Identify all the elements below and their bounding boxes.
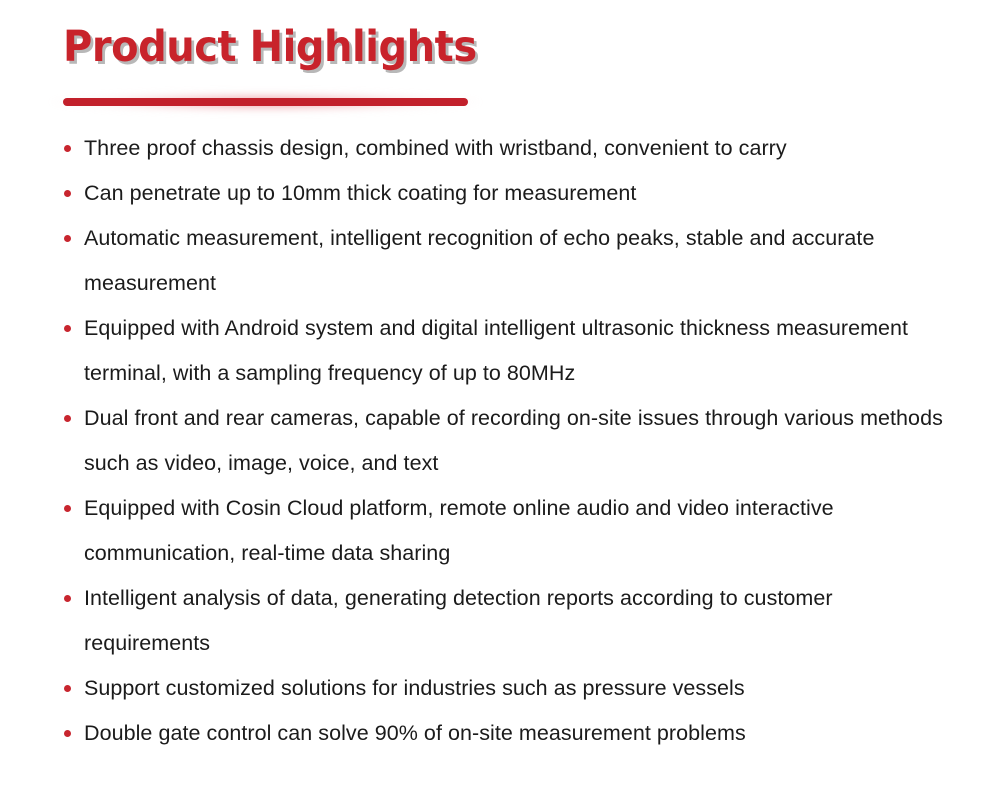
bullet-dot-icon [64, 145, 71, 152]
list-item: Equipped with Cosin Cloud platform, remo… [63, 486, 963, 576]
bullet-dot-icon [64, 685, 71, 692]
list-item-text: Support customized solutions for industr… [84, 666, 963, 711]
page-title: Product Highlights [63, 26, 863, 70]
bullet-dot-icon [64, 235, 71, 242]
list-item-text: Three proof chassis design, combined wit… [84, 126, 963, 171]
list-item: Support customized solutions for industr… [63, 666, 963, 711]
list-item: Double gate control can solve 90% of on-… [63, 711, 963, 756]
slide-canvas: Product Highlights Three proof chassis d… [0, 0, 1000, 800]
bullet-dot-icon [64, 505, 71, 512]
list-item-text: Dual front and rear cameras, capable of … [84, 396, 963, 486]
list-item: Automatic measurement, intelligent recog… [63, 216, 963, 306]
list-item: Three proof chassis design, combined wit… [63, 126, 963, 171]
list-item: Equipped with Android system and digital… [63, 306, 963, 396]
list-item-text: Can penetrate up to 10mm thick coating f… [84, 171, 963, 216]
bullet-dot-icon [64, 595, 71, 602]
bullet-dot-icon [64, 730, 71, 737]
bullet-dot-icon [64, 190, 71, 197]
title-block: Product Highlights [63, 26, 923, 70]
list-item-text: Equipped with Android system and digital… [84, 306, 963, 396]
title-underline [63, 89, 468, 115]
bullet-dot-icon [64, 415, 71, 422]
list-item-text: Equipped with Cosin Cloud platform, remo… [84, 486, 963, 576]
highlights-list: Three proof chassis design, combined wit… [63, 126, 963, 756]
list-item-text: Double gate control can solve 90% of on-… [84, 711, 963, 756]
bullet-dot-icon [64, 325, 71, 332]
list-item: Intelligent analysis of data, generating… [63, 576, 963, 666]
list-item: Can penetrate up to 10mm thick coating f… [63, 171, 963, 216]
list-item-text: Intelligent analysis of data, generating… [84, 576, 963, 666]
list-item: Dual front and rear cameras, capable of … [63, 396, 963, 486]
title-underline-bar [63, 98, 468, 106]
list-item-text: Automatic measurement, intelligent recog… [84, 216, 963, 306]
